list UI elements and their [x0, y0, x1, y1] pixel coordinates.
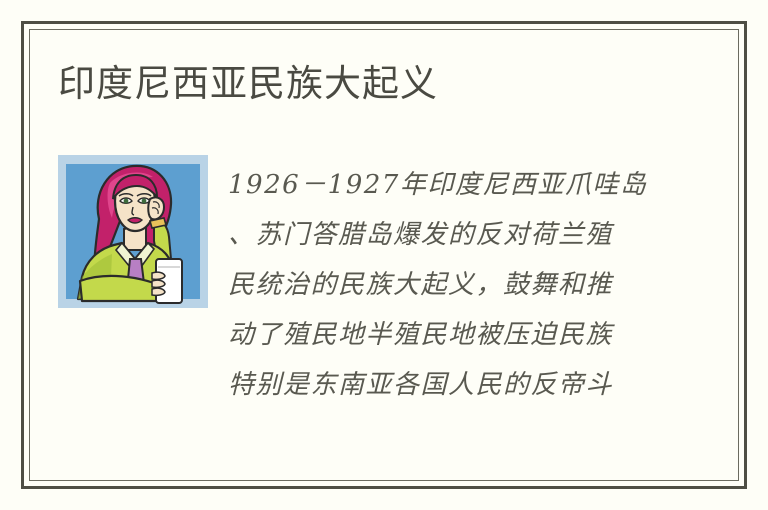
content-area: 印度尼西亚民族大起义	[0, 0, 768, 510]
body-paragraph: 1926－1927年印度尼西亚爪哇岛 、苏门答腊岛爆发的反对荷兰殖 民统治的民族…	[228, 160, 658, 410]
illustration-image	[58, 155, 208, 308]
body-line: 民统治的民族大起义，鼓舞和推	[228, 260, 658, 310]
page-canvas: 印度尼西亚民族大起义	[0, 0, 768, 510]
body-line: 1926－1927年印度尼西亚爪哇岛	[228, 160, 658, 210]
page-title: 印度尼西亚民族大起义	[58, 62, 438, 106]
body-line: 、苏门答腊岛爆发的反对荷兰殖	[228, 210, 658, 260]
woman-with-glass-icon	[58, 155, 208, 308]
body-line: 特别是东南亚各国人民的反帝斗	[228, 360, 658, 410]
body-line: 动了殖民地半殖民地被压迫民族	[228, 310, 658, 360]
